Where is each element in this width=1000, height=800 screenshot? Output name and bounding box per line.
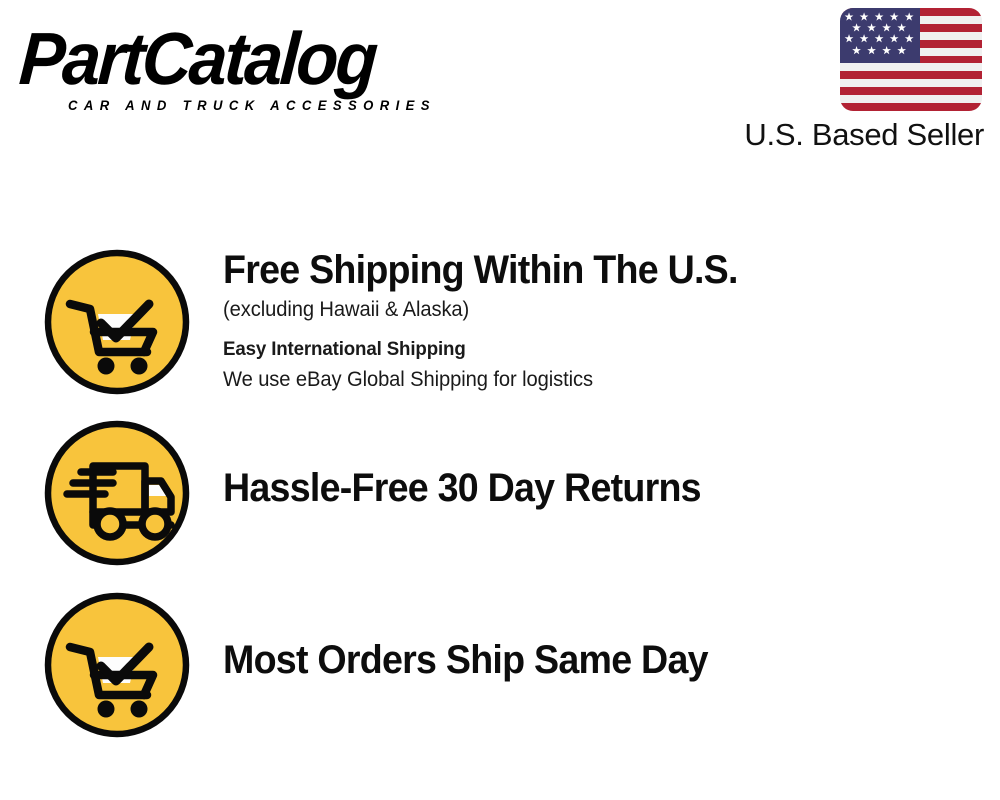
feature-text: Most Orders Ship Same Day: [223, 591, 983, 682]
delivery-truck-icon: [43, 419, 191, 567]
feature-text: Free Shipping Within The U.S. (excluding…: [223, 248, 983, 395]
cart-check-icon: [43, 248, 191, 396]
feature-detail: We use eBay Global Shipping for logistic…: [223, 365, 953, 395]
feature-list: Free Shipping Within The U.S. (excluding…: [0, 0, 1000, 800]
feature-subtitle: Easy International Shipping: [223, 333, 953, 365]
feature-title: Most Orders Ship Same Day: [223, 591, 937, 682]
cart-check-icon: [43, 591, 191, 739]
feature-title: Free Shipping Within The U.S.: [223, 248, 937, 292]
feature-text: Hassle-Free 30 Day Returns: [223, 419, 983, 510]
feature-note: (excluding Hawaii & Alaska): [223, 295, 953, 325]
feature-title: Hassle-Free 30 Day Returns: [223, 419, 937, 510]
